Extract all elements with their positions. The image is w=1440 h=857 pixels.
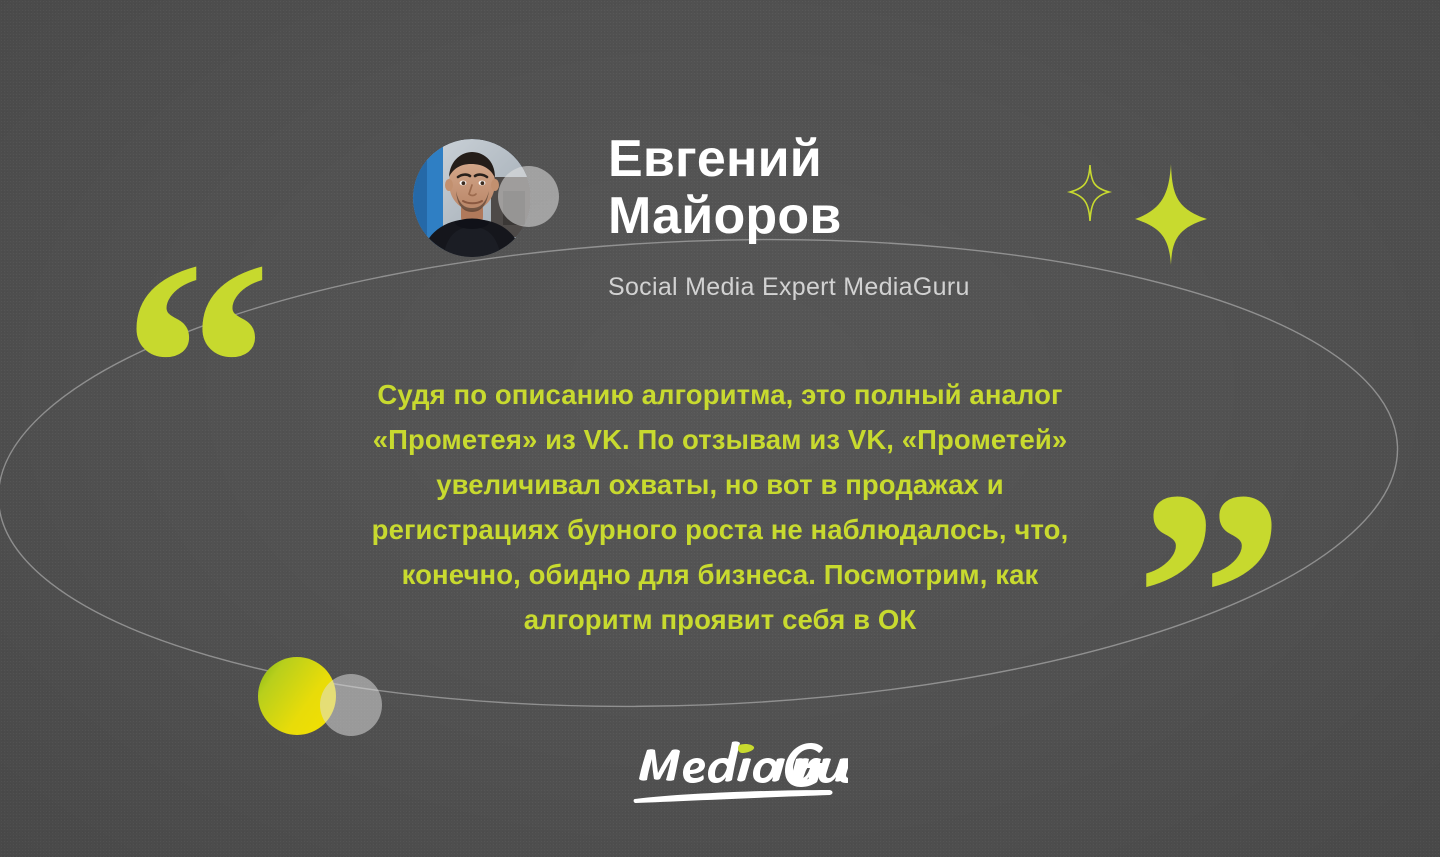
avatar-overlay-circle bbox=[498, 166, 559, 227]
speaker-name-line-1: Евгений bbox=[608, 131, 1168, 188]
circle-overlay-grey bbox=[320, 674, 382, 736]
quote-text: Судя по описанию алгоритма, это полный а… bbox=[355, 372, 1085, 642]
mediaguru-logo bbox=[633, 733, 848, 808]
speaker-name-line-2: Майоров bbox=[608, 188, 1168, 245]
avatar bbox=[413, 139, 553, 279]
page-title: Евгений Майоров bbox=[608, 131, 1168, 245]
decorative-circles bbox=[258, 657, 388, 747]
quote-open-mark: “ bbox=[122, 215, 272, 515]
logo-underline-icon bbox=[634, 790, 833, 803]
quote-card: “ ” bbox=[0, 0, 1440, 857]
logo-accent-icon bbox=[738, 744, 754, 753]
speaker-role: Social Media Expert MediaGuru bbox=[608, 272, 1308, 302]
quote-close-mark: ” bbox=[1135, 445, 1285, 745]
